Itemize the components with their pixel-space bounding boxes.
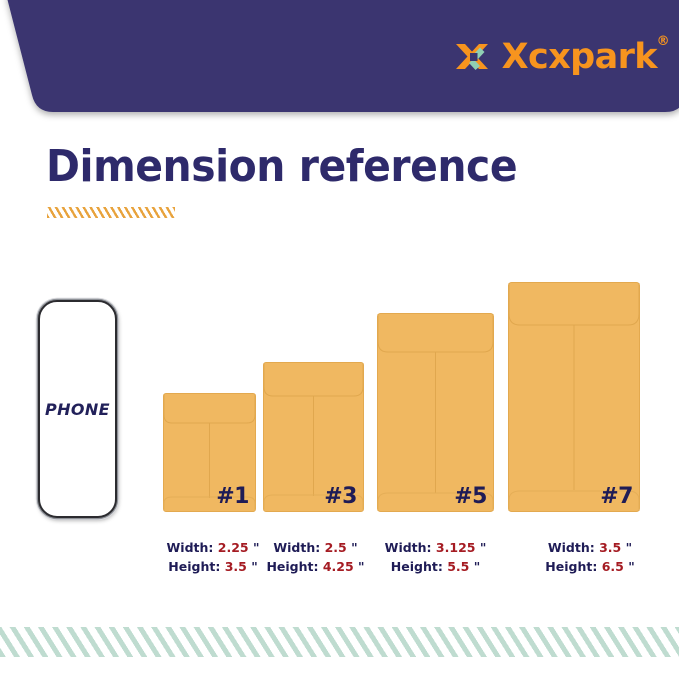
height-label: Height: [391,559,443,574]
height-label: Height: [266,559,318,574]
dimensions-envelope-3: Width: 2.5 " Height: 4.25 " [263,538,368,576]
height-line: Height: 5.5 " [372,557,499,576]
brand-wordmark: Xcxpark® [502,40,657,75]
page-title: Dimension reference [46,145,517,189]
width-line: Width: 2.5 " [263,538,368,557]
width-value: 3.125 [436,540,476,555]
height-unit: " [474,559,481,574]
dimensions-envelope-7: Width: 3.5 " Height: 6.5 " [530,538,650,576]
width-unit: " [480,540,487,555]
width-label: Width: [167,540,214,555]
width-line: Width: 2.25 " [163,538,263,557]
dimensions-envelope-1: Width: 2.25 " Height: 3.5 " [163,538,263,576]
header-banner: Xcxpark® [0,0,679,112]
height-label: Height: [168,559,220,574]
width-value: 3.5 [599,540,621,555]
width-unit: " [253,540,260,555]
envelope-size-1[interactable]: #1 [163,393,256,512]
height-unit: " [628,559,635,574]
height-value: 4.25 [323,559,354,574]
envelope-number-label: #5 [454,486,487,508]
height-value: 6.5 [602,559,624,574]
registered-trademark-icon: ® [657,35,669,48]
height-value: 3.5 [225,559,247,574]
dimensions-envelope-5: Width: 3.125 " Height: 5.5 " [372,538,499,576]
xcxpark-x-mark-icon [453,38,493,76]
width-unit: " [626,540,633,555]
width-line: Width: 3.125 " [372,538,499,557]
height-value: 5.5 [447,559,469,574]
envelope-number-label: #3 [324,486,357,508]
phone-reference-figure: PHONE [38,300,117,518]
height-line: Height: 4.25 " [263,557,368,576]
brand-logo: Xcxpark® [453,38,657,76]
height-unit: " [251,559,258,574]
phone-label: PHONE [45,400,110,419]
width-value: 2.5 [325,540,347,555]
width-line: Width: 3.5 " [530,538,650,557]
width-unit: " [351,540,358,555]
envelope-number-label: #7 [600,486,633,508]
width-value: 2.25 [218,540,249,555]
footer-decorative-stripe [0,627,679,657]
envelope-size-3[interactable]: #3 [263,362,364,512]
height-label: Height: [545,559,597,574]
width-label: Width: [273,540,320,555]
width-label: Width: [548,540,595,555]
title-underline-hatch [47,207,175,218]
height-unit: " [358,559,365,574]
brand-wordmark-text: Xcxpark [502,37,657,77]
envelope-number-label: #1 [216,486,249,508]
width-label: Width: [385,540,432,555]
height-line: Height: 6.5 " [530,557,650,576]
height-line: Height: 3.5 " [163,557,263,576]
envelope-size-5[interactable]: #5 [377,313,494,512]
envelope-size-7[interactable]: #7 [508,282,640,512]
